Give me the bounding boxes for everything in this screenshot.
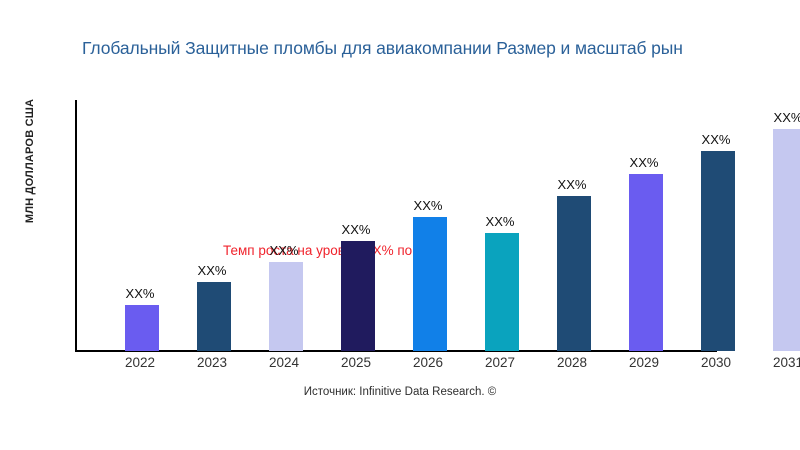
y-axis-title-container: МЛН ДОЛЛАРОВ США <box>0 0 40 340</box>
x-tick-2029: 2029 <box>608 355 680 370</box>
bar-slot-2027: XX% <box>464 100 536 351</box>
x-tick-2027: 2027 <box>464 355 536 370</box>
bar-2027[interactable] <box>485 233 519 351</box>
bar-2022[interactable] <box>125 305 159 351</box>
x-tick-2022: 2022 <box>104 355 176 370</box>
bar-value-label-2028: XX% <box>536 177 608 192</box>
bar-2026[interactable] <box>413 217 447 351</box>
bar-2023[interactable] <box>197 282 231 351</box>
bar-value-label-2026: XX% <box>392 198 464 213</box>
bar-slot-2030: XX% <box>680 100 752 351</box>
bar-2029[interactable] <box>629 174 663 351</box>
bar-value-label-2025: XX% <box>320 222 392 237</box>
bar-slot-2026: XX% <box>392 100 464 351</box>
y-axis-title: МЛН ДОЛЛАРОВ США <box>24 36 36 286</box>
bar-series: XX%XX%XX%XX%XX%XX%XX%XX%XX%XX% <box>75 100 793 351</box>
bar-slot-2025: XX% <box>320 100 392 351</box>
x-tick-2025: 2025 <box>320 355 392 370</box>
x-axis-tick-labels: 2022202320242025202620272028202920302031 <box>75 355 793 379</box>
bar-slot-2028: XX% <box>536 100 608 351</box>
bar-2030[interactable] <box>701 151 735 351</box>
chart-title: Глобальный Защитные пломбы для авиакомпа… <box>82 38 800 59</box>
bar-slot-2029: XX% <box>608 100 680 351</box>
bar-value-label-2024: XX% <box>248 243 320 258</box>
bar-2024[interactable] <box>269 262 303 351</box>
bar-value-label-2030: XX% <box>680 132 752 147</box>
plot-area: Темп роста на уровне XX% по РДЭ XX%XX%XX… <box>75 100 793 352</box>
bar-slot-2031: XX% <box>752 100 800 351</box>
bar-slot-2022: XX% <box>104 100 176 351</box>
bar-value-label-2031: XX% <box>752 110 800 125</box>
bar-value-label-2023: XX% <box>176 263 248 278</box>
x-tick-2031: 2031 <box>752 355 800 370</box>
bar-value-label-2029: XX% <box>608 155 680 170</box>
bar-2031[interactable] <box>773 129 800 351</box>
bar-2025[interactable] <box>341 241 375 351</box>
bar-slot-2023: XX% <box>176 100 248 351</box>
bar-value-label-2027: XX% <box>464 214 536 229</box>
x-tick-2028: 2028 <box>536 355 608 370</box>
x-tick-2030: 2030 <box>680 355 752 370</box>
x-tick-2026: 2026 <box>392 355 464 370</box>
source-caption: Источник: Infinitive Data Research. © <box>0 386 800 398</box>
bar-2028[interactable] <box>557 196 591 351</box>
bar-value-label-2022: XX% <box>104 286 176 301</box>
bar-slot-2024: XX% <box>248 100 320 351</box>
x-tick-2024: 2024 <box>248 355 320 370</box>
x-tick-2023: 2023 <box>176 355 248 370</box>
